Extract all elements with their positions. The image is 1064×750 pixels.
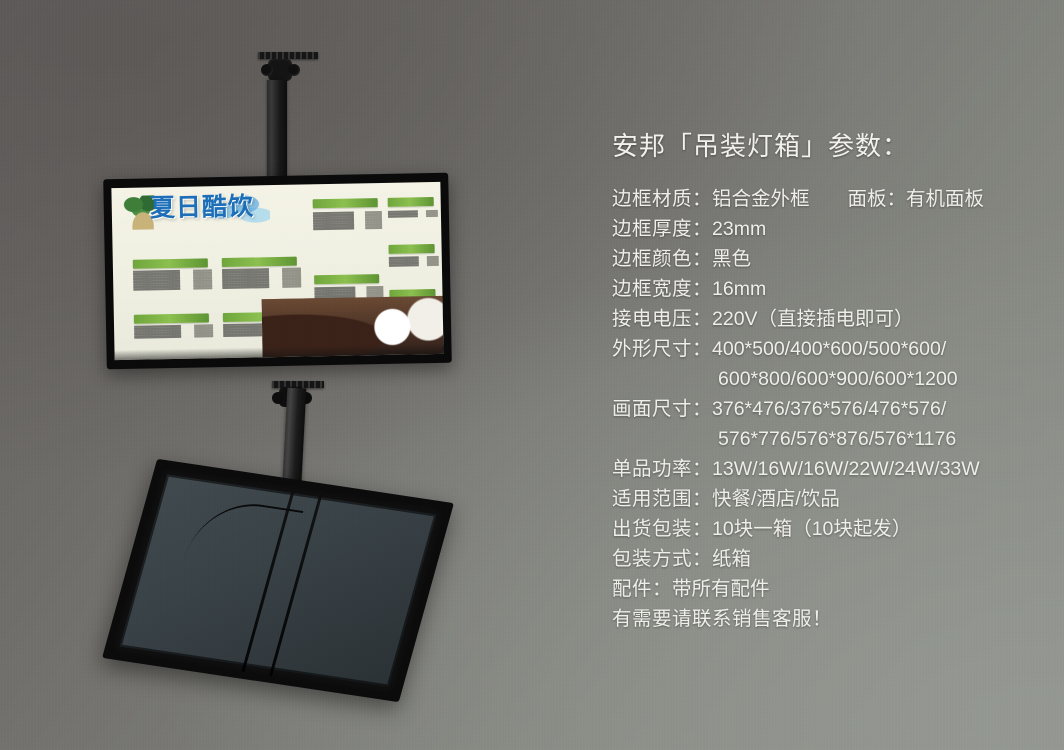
menu-hero-area: 夏日酷饮 <box>111 185 303 254</box>
spec-label: 边框材质： <box>612 188 712 210</box>
spec-title: 安邦「吊装灯箱」参数： <box>612 126 1052 163</box>
spec-line: 边框宽度：16mm <box>612 274 1052 304</box>
spec-label: 外形尺寸： <box>612 338 712 360</box>
pivot-knob-left-upper <box>261 64 273 76</box>
spec-label: 出货包装： <box>612 518 712 540</box>
spec-label: 边框厚度： <box>612 218 712 240</box>
spec-value: 600*800/600*900/600*1200 <box>718 368 958 390</box>
spec-line: 包装方式：纸箱 <box>612 544 1052 574</box>
menu-row <box>313 226 382 230</box>
lightbox-front-menu: 夏日酷饮 <box>103 173 452 370</box>
spec-line: 边框颜色：黑色 <box>612 244 1052 274</box>
spec-value-secondary: 有机面板 <box>906 188 984 210</box>
spec-label: 边框宽度： <box>612 278 712 300</box>
spec-label: 接电电压： <box>612 308 712 330</box>
spec-value: 10块一箱（10块起发） <box>712 518 911 540</box>
menu-section-rows <box>133 269 212 291</box>
spec-line: 边框材质：铝合金外框面板：有机面板 <box>612 184 1052 214</box>
menu-bottom-strip <box>114 344 443 361</box>
menu-section-header <box>312 199 378 209</box>
spec-label: 画面尺寸： <box>612 398 712 420</box>
menu-section-rows <box>313 211 382 230</box>
menu-section-header <box>314 274 380 284</box>
lightbox-rear-frame <box>102 459 454 702</box>
spec-label: 边框颜色： <box>612 248 712 270</box>
menu-section-rows <box>389 256 439 267</box>
spec-label-secondary: 面板： <box>848 188 907 210</box>
menu-section-rows <box>134 324 213 338</box>
menu-section-header <box>221 257 297 267</box>
spec-value: 黑色 <box>712 248 751 270</box>
menu-row <box>133 287 212 291</box>
spec-line: 单品功率：13W/16W/16W/22W/24W/33W <box>612 454 1052 484</box>
menu-row <box>388 215 437 219</box>
spec-value: 铝合金外框 <box>712 188 810 210</box>
menu-section-header <box>389 244 435 254</box>
menu-section-header <box>134 314 210 324</box>
spec-label: 适用范围： <box>612 488 712 510</box>
ceiling-mount-plate-upper <box>258 52 318 59</box>
menu-row <box>222 285 301 289</box>
spec-value: 带所有配件 <box>672 578 770 600</box>
spec-value: 13W/16W/16W/22W/24W/33W <box>712 458 980 480</box>
spec-line: 接电电压：220V（直接插电即可） <box>612 304 1052 334</box>
pivot-knob-right-upper <box>288 64 300 76</box>
spec-value: 16mm <box>712 278 766 300</box>
spec-line-list: 边框材质：铝合金外框面板：有机面板边框厚度：23mm边框颜色：黑色边框宽度：16… <box>612 184 1052 634</box>
mount-pole-upper <box>267 80 287 180</box>
spec-value: 576*776/576*876/576*1176 <box>718 428 956 450</box>
spec-line: 出货包装：10块一箱（10块起发） <box>612 514 1052 544</box>
menu-row <box>389 264 438 268</box>
product-photo-canvas: 夏日酷饮 <box>0 0 1064 750</box>
spec-value: 400*500/400*600/500*600/ <box>712 338 946 360</box>
menu-artwork: 夏日酷饮 <box>111 182 443 360</box>
menu-section-header <box>132 259 208 269</box>
menu-section-rows <box>222 267 301 289</box>
mount-plate-holes <box>258 52 318 59</box>
lightbox-rear-view <box>102 459 454 702</box>
spec-line: 边框厚度：23mm <box>612 214 1052 244</box>
spec-line: 画面尺寸：376*476/376*576/476*576/ <box>612 394 1052 424</box>
menu-section-rows <box>388 209 437 218</box>
spec-label: 有需要请联系销售客服！ <box>612 608 832 630</box>
spec-label: 单品功率： <box>612 458 712 480</box>
spec-label: 包装方式： <box>612 548 712 570</box>
spec-value: 376*476/376*576/476*576/ <box>712 398 946 420</box>
pivot-knob-left-lower <box>272 392 284 404</box>
menu-title: 夏日酷饮 <box>150 195 254 222</box>
spec-line: 适用范围：快餐/酒店/饮品 <box>612 484 1052 514</box>
spec-label: 配件： <box>612 578 672 600</box>
spec-line: 576*776/576*876/576*1176 <box>612 424 1052 454</box>
spec-value: 纸箱 <box>712 548 751 570</box>
spec-value: 23mm <box>712 218 766 240</box>
spec-value: 220V（直接插电即可） <box>712 308 914 330</box>
spec-panel: 安邦「吊装灯箱」参数： 边框材质：铝合金外框面板：有机面板边框厚度：23mm边框… <box>612 126 1052 634</box>
menu-section-header <box>388 197 434 207</box>
spec-line: 600*800/600*900/600*1200 <box>612 364 1052 394</box>
spec-value: 快餐/酒店/饮品 <box>712 488 840 510</box>
menu-row <box>134 334 213 338</box>
spec-line: 外形尺寸：400*500/400*600/500*600/ <box>612 334 1052 364</box>
spec-line: 配件：带所有配件 <box>612 574 1052 604</box>
spec-line: 有需要请联系销售客服！ <box>612 604 1052 634</box>
